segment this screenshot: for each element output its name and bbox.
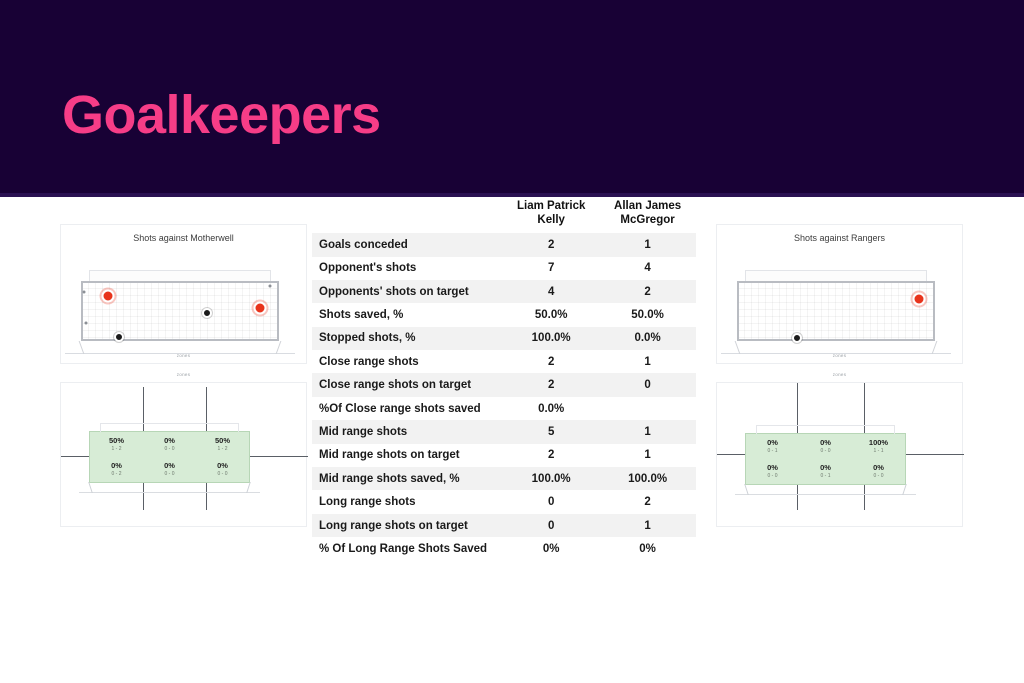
shot-marker-off xyxy=(82,290,85,293)
table-row: Mid range shots51 xyxy=(312,420,696,443)
right-zonegrid-credit: zones xyxy=(716,372,963,377)
table-row: Shots saved, %50.0%50.0% xyxy=(312,303,696,326)
zone-cell: 100% 1 - 1 xyxy=(852,434,905,459)
zone-fraction: 0 - 1 xyxy=(767,449,777,454)
zone-percent: 0% xyxy=(164,462,175,470)
right-zonegrid-panel: 0% 0 - 1 0% 0 - 0 100% 1 - 1 0% 0 - 0 0%… xyxy=(716,382,963,527)
zone-cell: 0% 0 - 1 xyxy=(799,459,852,484)
stat-value-player-1: 0.0% xyxy=(503,397,599,420)
goalkeeper-stats-table: Liam Patrick Kelly Allan James McGregor … xyxy=(312,196,696,561)
zone-percent: 100% xyxy=(869,439,888,447)
zone-depth-top xyxy=(100,423,240,432)
zone-percent: 0% xyxy=(820,464,831,472)
stat-value-player-2: 1 xyxy=(599,444,696,467)
table-row: %Of Close range shots saved0.0% xyxy=(312,397,696,420)
stat-value-player-1: 0% xyxy=(503,537,599,560)
stat-metric-label: Opponents' shots on target xyxy=(312,280,503,303)
stat-value-player-1: 2 xyxy=(503,350,599,373)
stat-value-player-2 xyxy=(599,397,696,420)
zone-cell: 0% 0 - 0 xyxy=(852,459,905,484)
shot-marker-goal xyxy=(254,302,267,315)
player-1-name-line-1: Liam Patrick xyxy=(505,200,597,214)
left-zonegrid-credit: zones xyxy=(60,372,307,377)
zone-cell: 0% 0 - 0 xyxy=(196,457,249,482)
stat-value-player-2: 2 xyxy=(599,280,696,303)
zone-cell: 0% 0 - 0 xyxy=(143,432,196,457)
stat-metric-label: %Of Close range shots saved xyxy=(312,397,503,420)
stat-metric-label: Opponent's shots xyxy=(312,257,503,280)
column-header-player-2: Allan James McGregor xyxy=(599,196,696,233)
shot-marker-saved xyxy=(792,333,802,343)
stat-value-player-1: 2 xyxy=(503,373,599,396)
zone-fraction: 0 - 0 xyxy=(873,474,883,479)
zone-fraction: 0 - 0 xyxy=(164,472,174,477)
zone-cell: 0% 0 - 0 xyxy=(143,457,196,482)
stat-value-player-2: 1 xyxy=(599,233,696,256)
right-shotmap-credit: zones xyxy=(717,353,962,358)
shot-marker-goal xyxy=(101,290,114,303)
stat-value-player-1: 100.0% xyxy=(503,327,599,350)
player-1-name-line-2: Kelly xyxy=(505,214,597,228)
goal-depth-top xyxy=(745,270,927,281)
stat-value-player-1: 7 xyxy=(503,257,599,280)
shot-marker-off xyxy=(84,322,87,325)
zone-percent: 50% xyxy=(215,437,230,445)
stat-value-player-1: 100.0% xyxy=(503,467,599,490)
stat-metric-label: Mid range shots xyxy=(312,420,503,443)
zone-cell: 50% 1 - 2 xyxy=(90,432,143,457)
right-goal-diagram xyxy=(737,281,935,341)
zone-percent: 0% xyxy=(164,437,175,445)
left-zone-diagram: 50% 1 - 2 0% 0 - 0 50% 1 - 2 0% 0 - 2 0%… xyxy=(61,383,308,528)
zone-percent: 50% xyxy=(109,437,124,445)
stat-metric-label: Mid range shots on target xyxy=(312,444,503,467)
table-header-row: Liam Patrick Kelly Allan James McGregor xyxy=(312,196,696,233)
stat-metric-label: Goals conceded xyxy=(312,233,503,256)
zone-depth-bottom xyxy=(735,484,916,495)
stat-value-player-2: 50.0% xyxy=(599,303,696,326)
table-row: Mid range shots on target21 xyxy=(312,444,696,467)
stat-metric-label: Close range shots on target xyxy=(312,373,503,396)
goal-depth-top xyxy=(89,270,271,281)
zone-fraction: 0 - 1 xyxy=(820,474,830,479)
right-zone-grid: 0% 0 - 1 0% 0 - 0 100% 1 - 1 0% 0 - 0 0%… xyxy=(745,433,906,485)
shot-marker-saved xyxy=(114,332,124,342)
zone-depth-bottom xyxy=(79,482,260,493)
stat-value-player-2: 100.0% xyxy=(599,467,696,490)
zone-cell: 0% 0 - 2 xyxy=(90,457,143,482)
shot-marker-off xyxy=(269,284,272,287)
stat-metric-label: Long range shots xyxy=(312,490,503,513)
table-body: Goals conceded21Opponent's shots74Oppone… xyxy=(312,233,696,560)
player-2-name-line-1: Allan James xyxy=(601,200,694,214)
zone-percent: 0% xyxy=(820,439,831,447)
left-goal-diagram xyxy=(81,281,279,341)
stat-value-player-1: 5 xyxy=(503,420,599,443)
zone-percent: 0% xyxy=(111,462,122,470)
zone-percent: 0% xyxy=(217,462,228,470)
zone-depth-top xyxy=(756,425,896,434)
stat-value-player-1: 0 xyxy=(503,514,599,537)
stat-value-player-1: 4 xyxy=(503,280,599,303)
zone-cell: 0% 0 - 1 xyxy=(746,434,799,459)
table-row: Opponent's shots74 xyxy=(312,257,696,280)
left-shotmap-panel: Shots against Motherwell zones xyxy=(60,224,307,364)
zone-fraction: 1 - 2 xyxy=(217,447,227,452)
left-shotmap-credit: zones xyxy=(61,353,306,358)
left-zone-grid: 50% 1 - 2 0% 0 - 0 50% 1 - 2 0% 0 - 2 0%… xyxy=(89,431,250,483)
column-header-player-1: Liam Patrick Kelly xyxy=(503,196,599,233)
zone-fraction: 0 - 0 xyxy=(820,449,830,454)
right-shotmap-panel: Shots against Rangers zones xyxy=(716,224,963,364)
stat-value-player-1: 2 xyxy=(503,444,599,467)
stat-value-player-2: 1 xyxy=(599,514,696,537)
page-title: Goalkeepers xyxy=(62,88,381,142)
stat-value-player-1: 0 xyxy=(503,490,599,513)
table-head: Liam Patrick Kelly Allan James McGregor xyxy=(312,196,696,233)
table-row: % Of Long Range Shots Saved0%0% xyxy=(312,537,696,560)
table-row: Close range shots21 xyxy=(312,350,696,373)
goal-frame xyxy=(737,281,935,341)
stat-value-player-1: 2 xyxy=(503,233,599,256)
table-row: Stopped shots, %100.0%0.0% xyxy=(312,327,696,350)
stat-value-player-1: 50.0% xyxy=(503,303,599,326)
stat-value-player-2: 0 xyxy=(599,373,696,396)
column-header-metric xyxy=(312,196,503,233)
zone-percent: 0% xyxy=(767,464,778,472)
zone-fraction: 0 - 2 xyxy=(111,472,121,477)
table-row: Long range shots02 xyxy=(312,490,696,513)
zone-fraction: 1 - 1 xyxy=(873,449,883,454)
left-zonegrid-panel: 50% 1 - 2 0% 0 - 0 50% 1 - 2 0% 0 - 2 0%… xyxy=(60,382,307,527)
player-2-name-line-2: McGregor xyxy=(601,214,694,228)
stat-metric-label: Close range shots xyxy=(312,350,503,373)
table-row: Opponents' shots on target42 xyxy=(312,280,696,303)
table-row: Goals conceded21 xyxy=(312,233,696,256)
stat-value-player-2: 4 xyxy=(599,257,696,280)
zone-cell: 0% 0 - 0 xyxy=(746,459,799,484)
zone-percent: 0% xyxy=(873,464,884,472)
right-shotmap-title: Shots against Rangers xyxy=(717,233,962,243)
shot-marker-goal xyxy=(913,293,926,306)
stat-metric-label: Stopped shots, % xyxy=(312,327,503,350)
zone-fraction: 0 - 0 xyxy=(164,447,174,452)
zone-fraction: 1 - 2 xyxy=(111,447,121,452)
table-row: Close range shots on target20 xyxy=(312,373,696,396)
stat-value-player-2: 0.0% xyxy=(599,327,696,350)
shot-marker-saved xyxy=(202,308,212,318)
stat-metric-label: % Of Long Range Shots Saved xyxy=(312,537,503,560)
stat-metric-label: Mid range shots saved, % xyxy=(312,467,503,490)
zone-fraction: 0 - 0 xyxy=(767,474,777,479)
stat-metric-label: Shots saved, % xyxy=(312,303,503,326)
stat-value-player-2: 0% xyxy=(599,537,696,560)
zone-cell: 50% 1 - 2 xyxy=(196,432,249,457)
zone-percent: 0% xyxy=(767,439,778,447)
right-zone-diagram: 0% 0 - 1 0% 0 - 0 100% 1 - 1 0% 0 - 0 0%… xyxy=(717,383,964,528)
zone-fraction: 0 - 0 xyxy=(217,472,227,477)
stat-value-player-2: 1 xyxy=(599,350,696,373)
stat-metric-label: Long range shots on target xyxy=(312,514,503,537)
stat-value-player-2: 2 xyxy=(599,490,696,513)
zone-cell: 0% 0 - 0 xyxy=(799,434,852,459)
stat-value-player-2: 1 xyxy=(599,420,696,443)
left-shotmap-title: Shots against Motherwell xyxy=(61,233,306,243)
table-row: Mid range shots saved, %100.0%100.0% xyxy=(312,467,696,490)
table-row: Long range shots on target01 xyxy=(312,514,696,537)
